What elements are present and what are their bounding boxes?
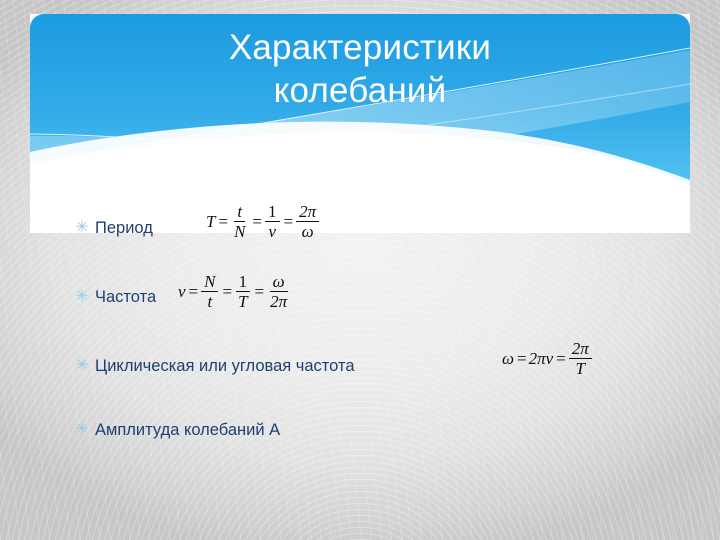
formula-equals: = <box>222 282 232 302</box>
fraction-numerator: 1 <box>236 273 251 292</box>
list-item: ✳ Период <box>74 220 153 237</box>
fraction-numerator: N <box>201 273 218 292</box>
list-item: ✳ Частота <box>74 289 156 306</box>
formula-equals: = <box>556 349 566 369</box>
fraction-denominator: t <box>204 292 215 310</box>
asterisk-bullet-icon: ✳ <box>74 422 90 438</box>
formula-period: T = t N = 1 ν = 2π ω <box>206 203 320 241</box>
formula-lhs: ω <box>502 349 514 369</box>
formula-middle-term: 2πν <box>529 349 554 369</box>
fraction: 2π ω <box>296 203 319 241</box>
fraction-denominator: T <box>573 359 588 377</box>
fraction: ω 2π <box>267 273 290 311</box>
fraction: 2π T <box>569 340 592 378</box>
fraction-denominator: ν <box>265 222 279 240</box>
list-item-label: Амплитуда колебаний А <box>95 422 280 439</box>
formula-equals: = <box>255 282 265 302</box>
presentation-slide: Характеристики колебаний ✳ Период ✳ Част… <box>0 0 720 540</box>
formula-equals: = <box>218 212 228 232</box>
fraction-numerator: 2π <box>296 203 319 222</box>
fraction-denominator: T <box>235 292 250 310</box>
asterisk-bullet-icon: ✳ <box>74 358 90 374</box>
fraction-numerator: 1 <box>265 203 280 222</box>
fraction: N t <box>201 273 218 311</box>
list-item-label: Циклическая или угловая частота <box>95 358 355 375</box>
formula-equals: = <box>189 282 199 302</box>
formula-equals: = <box>284 212 294 232</box>
fraction-numerator: ω <box>270 273 288 292</box>
formula-lhs: ν <box>178 282 186 302</box>
list-item-label: Период <box>95 220 153 237</box>
asterisk-bullet-icon: ✳ <box>74 220 90 236</box>
list-item: ✳ Циклическая или угловая частота <box>74 358 355 375</box>
formula-frequency: ν = N t = 1 T = ω 2π <box>178 273 291 311</box>
formula-equals: = <box>517 349 527 369</box>
fraction: 1 T <box>235 273 250 311</box>
list-item-label: Частота <box>95 289 156 306</box>
formula-lhs: T <box>206 212 215 232</box>
formula-angular-frequency: ω = 2πν = 2π T <box>502 340 593 378</box>
fraction-denominator: ω <box>299 222 317 240</box>
fraction-denominator: 2π <box>267 292 290 310</box>
fraction-numerator: 2π <box>569 340 592 359</box>
formula-equals: = <box>252 212 262 232</box>
fraction: t N <box>231 203 248 241</box>
page-title: Характеристики колебаний <box>30 26 690 113</box>
asterisk-bullet-icon: ✳ <box>74 289 90 305</box>
fraction: 1 ν <box>265 203 280 241</box>
list-item: ✳ Амплитуда колебаний А <box>74 422 280 439</box>
fraction-numerator: t <box>234 203 245 222</box>
fraction-denominator: N <box>231 222 248 240</box>
